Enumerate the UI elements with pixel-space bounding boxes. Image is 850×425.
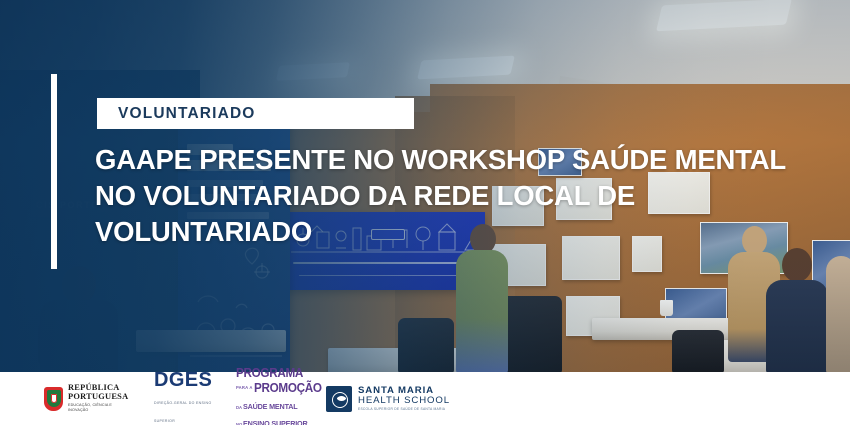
sm-subtitle: ESCOLA SUPERIOR DE SAÚDE DE SANTA MARIA	[358, 408, 450, 411]
programa-line-2: PROMOÇÃO	[254, 382, 322, 395]
republica-portuguesa-text: REPÚBLICA PORTUGUESA EDUCAÇÃO, CIÊNCIA E…	[68, 384, 128, 414]
logo-republica-portuguesa[interactable]: REPÚBLICA PORTUGUESA EDUCAÇÃO, CIÊNCIA E…	[44, 384, 132, 414]
programa-line-4: ENSINO SUPERIOR	[243, 420, 307, 425]
programa-line-1: PROGRAMA	[236, 367, 299, 380]
heart-shield-icon	[326, 386, 352, 412]
logo-santa-maria-health-school[interactable]: SANTA MARIA HEALTH SCHOOL ESCOLA SUPERIO…	[326, 386, 450, 412]
category-badge-label: VOLUNTARIADO	[97, 105, 256, 123]
logo-dges[interactable]: DGES DIREÇÃO-GERAL DO ENSINO SUPERIOR	[154, 370, 216, 425]
headline-line-3: VOLUNTARIADO	[95, 214, 775, 250]
programa-row-2: PARA APROMOÇÃO	[236, 380, 304, 396]
portuguese-shield-icon	[44, 387, 63, 411]
santa-maria-text: SANTA MARIA HEALTH SCHOOL ESCOLA SUPERIO…	[358, 386, 450, 412]
programa-prefix-2: PARA A	[236, 386, 253, 390]
sm-line-2: HEALTH SCHOOL	[358, 396, 450, 406]
vertical-accent-bar	[51, 74, 57, 269]
partner-logos: REPÚBLICA PORTUGUESA EDUCAÇÃO, CIÊNCIA E…	[0, 367, 450, 425]
footer-logo-strip: REPÚBLICA PORTUGUESA EDUCAÇÃO, CIÊNCIA E…	[0, 372, 850, 425]
rp-line-1: REPÚBLICA	[68, 384, 128, 392]
category-badge[interactable]: VOLUNTARIADO	[97, 98, 414, 129]
programa-prefix-3: DA	[236, 405, 242, 410]
logo-programa-promocao[interactable]: PROGRAMA PARA APROMOÇÃO DASAÚDE MENTAL N…	[236, 367, 304, 425]
programa-row-3: DASAÚDE MENTAL	[236, 397, 304, 413]
headline-line-1: GAAPE PRESENTE NO WORKSHOP SAÚDE MENTAL	[95, 142, 775, 178]
article-hero-banner: CIS PORTO	[0, 0, 850, 425]
page-title: GAAPE PRESENTE NO WORKSHOP SAÚDE MENTAL …	[95, 142, 775, 250]
programa-line-3: SAÚDE MENTAL	[243, 403, 298, 411]
programa-row-4: NOENSINO SUPERIOR	[236, 414, 304, 425]
rp-line-2: PORTUGUESA	[68, 393, 128, 401]
headline-line-2: NO VOLUNTARIADO DA REDE LOCAL DE	[95, 178, 775, 214]
dges-wordmark: DGES	[154, 369, 212, 391]
dges-subtitle: DIREÇÃO-GERAL DO ENSINO SUPERIOR	[154, 401, 212, 423]
rp-subtitle: EDUCAÇÃO, CIÊNCIA E INOVAÇÃO	[68, 403, 126, 413]
